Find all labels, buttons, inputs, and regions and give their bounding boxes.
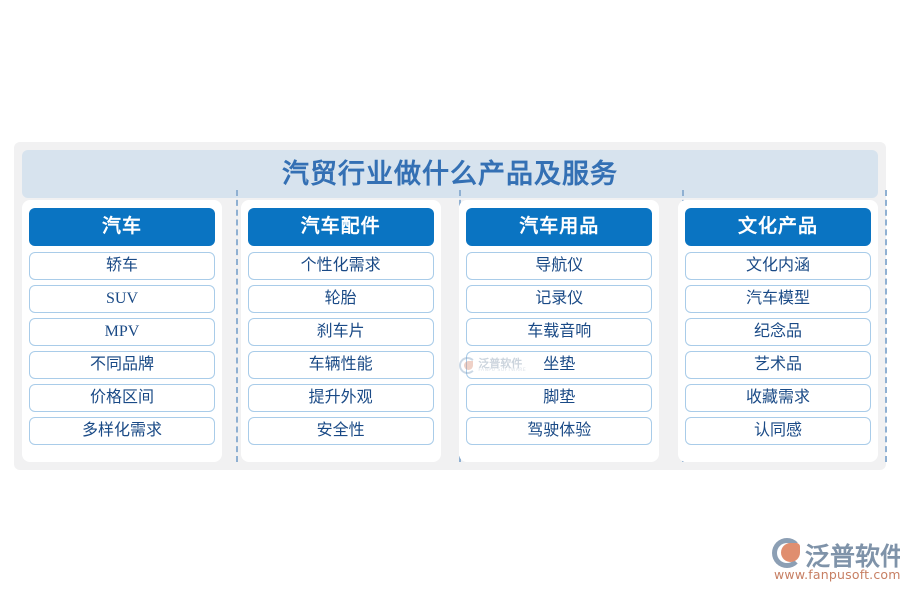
list-item[interactable]: 车辆性能 — [248, 351, 434, 379]
column-group-1: 汽车 轿车 SUV MPV 不同品牌 价格区间 多样化需求 — [22, 200, 222, 462]
list-item[interactable]: 汽车模型 — [685, 285, 871, 313]
infographic-container: 汽贸行业做什么产品及服务 汽车 轿车 SUV MPV 不同品牌 价格区间 多样化… — [14, 142, 886, 470]
page-title: 汽贸行业做什么产品及服务 — [22, 150, 878, 198]
list-item[interactable]: 驾驶体验 — [466, 417, 652, 445]
list-item[interactable]: 个性化需求 — [248, 252, 434, 280]
list-item[interactable]: 不同品牌 — [29, 351, 215, 379]
columns-row: 汽车 轿车 SUV MPV 不同品牌 价格区间 多样化需求 汽车配件 个性化需求… — [22, 200, 878, 462]
list-item[interactable]: 多样化需求 — [29, 417, 215, 445]
list-item[interactable]: 提升外观 — [248, 384, 434, 412]
list-item[interactable]: 认同感 — [685, 417, 871, 445]
column-group-3: 汽车用品 导航仪 记录仪 车载音响 坐垫 脚垫 驾驶体验 泛普软件 FANPU … — [459, 200, 659, 462]
list-item[interactable]: 安全性 — [248, 417, 434, 445]
column-group-4: 文化产品 文化内涵 汽车模型 纪念品 艺术品 收藏需求 认同感 — [678, 200, 878, 462]
list-item[interactable]: 轮胎 — [248, 285, 434, 313]
column-group-2: 汽车配件 个性化需求 轮胎 刹车片 车辆性能 提升外观 安全性 — [241, 200, 441, 462]
list-item[interactable]: 轿车 — [29, 252, 215, 280]
title-band: 汽贸行业做什么产品及服务 — [22, 150, 878, 198]
list-item[interactable]: 价格区间 — [29, 384, 215, 412]
column-header-1[interactable]: 汽车 — [29, 208, 215, 246]
brand-logo: 泛普软件 www.fanpusoft.com — [772, 534, 892, 584]
column-header-2[interactable]: 汽车配件 — [248, 208, 434, 246]
list-item[interactable]: 车载音响 — [466, 318, 652, 346]
logo-swoosh-icon — [781, 543, 800, 562]
list-item[interactable]: 文化内涵 — [685, 252, 871, 280]
list-item[interactable]: SUV — [29, 285, 215, 313]
list-item[interactable]: MPV — [29, 318, 215, 346]
list-item[interactable]: 坐垫 — [466, 351, 652, 379]
list-item[interactable]: 脚垫 — [466, 384, 652, 412]
list-item[interactable]: 艺术品 — [685, 351, 871, 379]
list-item[interactable]: 刹车片 — [248, 318, 434, 346]
list-item[interactable]: 记录仪 — [466, 285, 652, 313]
column-separator-4 — [885, 190, 887, 462]
list-item[interactable]: 纪念品 — [685, 318, 871, 346]
list-item[interactable]: 导航仪 — [466, 252, 652, 280]
column-header-4[interactable]: 文化产品 — [685, 208, 871, 246]
column-header-3[interactable]: 汽车用品 — [466, 208, 652, 246]
list-item[interactable]: 收藏需求 — [685, 384, 871, 412]
brand-url: www.fanpusoft.com — [774, 567, 900, 582]
